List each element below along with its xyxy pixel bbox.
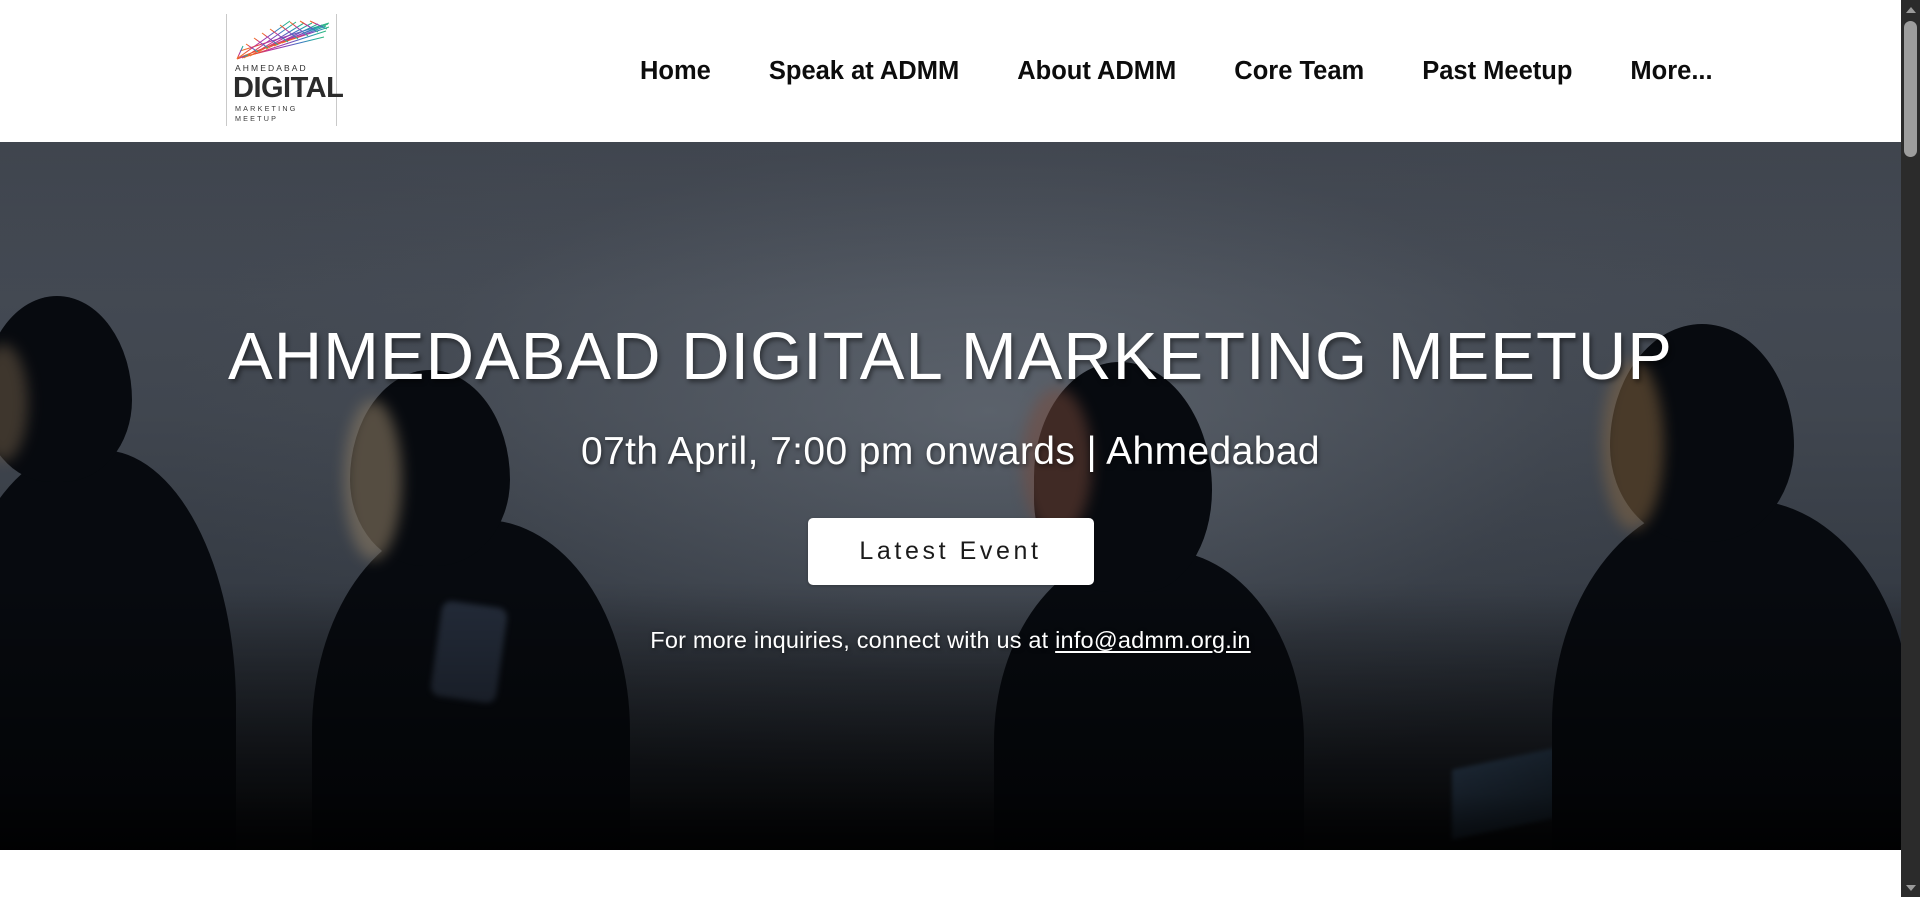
nav-item-past-meetup[interactable]: Past Meetup bbox=[1422, 51, 1572, 92]
contact-prefix-text: For more inquiries, connect with us at bbox=[650, 627, 1055, 653]
browser-viewport: AHMEDABAD DIGITAL MARKETING MEETUP Home … bbox=[0, 0, 1920, 897]
silhouette-device bbox=[1452, 746, 1562, 839]
nav-item-home[interactable]: Home bbox=[640, 51, 711, 92]
nav-item-about-admm[interactable]: About ADMM bbox=[1017, 51, 1176, 92]
logo-brand-sub-line1: MARKETING bbox=[235, 104, 298, 114]
logo-brand-sub-line2: MEETUP bbox=[235, 114, 298, 124]
page-below-fold bbox=[0, 850, 1901, 897]
logo-brand-main: DIGITAL bbox=[233, 74, 343, 103]
logo-inner: AHMEDABAD DIGITAL MARKETING MEETUP bbox=[232, 16, 334, 122]
contact-email-link[interactable]: info@admm.org.in bbox=[1055, 627, 1251, 653]
scrollbar-track[interactable] bbox=[1901, 19, 1920, 878]
scroll-down-triangle bbox=[1906, 885, 1916, 891]
hero-contact-line: For more inquiries, connect with us at i… bbox=[0, 627, 1901, 654]
nav-item-speak-at-admm[interactable]: Speak at ADMM bbox=[769, 51, 959, 92]
scroll-up-triangle bbox=[1906, 7, 1916, 13]
scrollbar-thumb[interactable] bbox=[1904, 21, 1917, 157]
logo-left-rule bbox=[226, 14, 227, 126]
rainbow-bridge-logo-icon bbox=[234, 18, 332, 62]
hero-title: AHMEDABAD DIGITAL MARKETING MEETUP bbox=[0, 322, 1901, 392]
scroll-up-arrow-icon[interactable] bbox=[1901, 0, 1920, 19]
site-header: AHMEDABAD DIGITAL MARKETING MEETUP Home … bbox=[0, 0, 1901, 142]
site-logo[interactable]: AHMEDABAD DIGITAL MARKETING MEETUP bbox=[226, 12, 338, 130]
scroll-down-arrow-icon[interactable] bbox=[1901, 878, 1920, 897]
page-content: AHMEDABAD DIGITAL MARKETING MEETUP Home … bbox=[0, 0, 1901, 897]
hero-content: AHMEDABAD DIGITAL MARKETING MEETUP 07th … bbox=[0, 142, 1901, 654]
latest-event-button[interactable]: Latest Event bbox=[808, 518, 1094, 585]
nav-item-core-team[interactable]: Core Team bbox=[1234, 51, 1364, 92]
hero-section: AHMEDABAD DIGITAL MARKETING MEETUP 07th … bbox=[0, 142, 1901, 850]
nav-item-more[interactable]: More... bbox=[1630, 51, 1712, 92]
logo-right-rule bbox=[336, 14, 337, 126]
logo-brand-sub: MARKETING MEETUP bbox=[235, 104, 298, 123]
page-scrollbar[interactable] bbox=[1901, 0, 1920, 897]
hero-cta-wrap: Latest Event bbox=[0, 518, 1901, 585]
hero-subtitle: 07th April, 7:00 pm onwards | Ahmedabad bbox=[0, 430, 1901, 474]
main-navigation: Home Speak at ADMM About ADMM Core Team … bbox=[640, 0, 1713, 142]
